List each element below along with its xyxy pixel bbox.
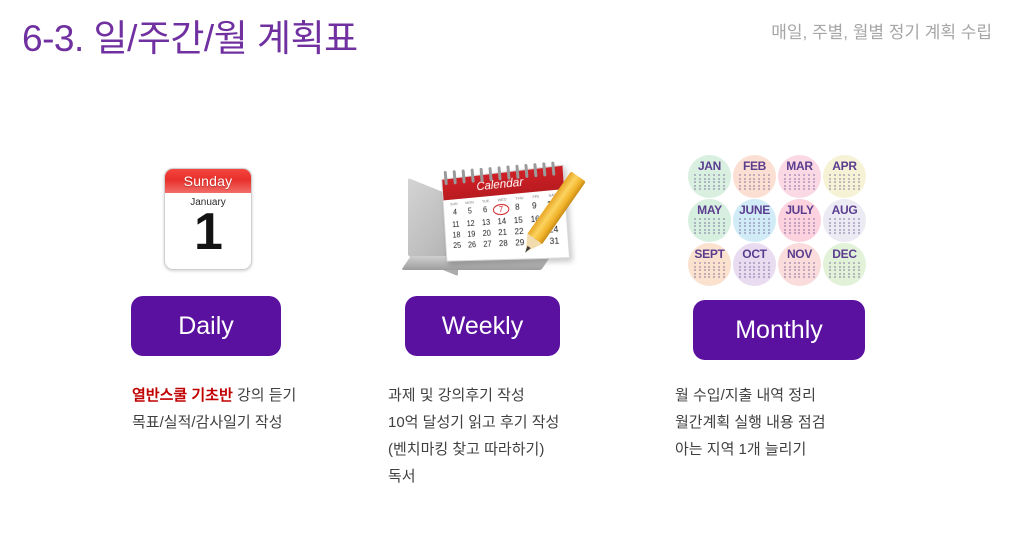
month-circle-feb: FEB — [733, 155, 776, 198]
month-mini-grid — [693, 174, 726, 190]
calendar-date-15: 15 — [510, 215, 527, 225]
month-label: APR — [832, 159, 856, 173]
month-label: JUNE — [739, 203, 770, 217]
page-title: 6-3. 일/주간/월 계획표 — [22, 8, 358, 62]
month-mini-grid — [828, 218, 861, 234]
month-mini-grid — [783, 174, 816, 190]
month-circle-dec: DEC — [823, 243, 866, 286]
column-weekly: Calendar SUNMONTUEWEDTHUFRISAT 456789101… — [340, 150, 640, 530]
calendar-date-9: 9 — [525, 200, 543, 213]
month-circle-may: MAY — [688, 199, 731, 242]
calendar-weekday-2: TUE — [482, 198, 490, 204]
weekly-button[interactable]: Weekly — [405, 296, 560, 356]
year-months-icon: JANFEBMARAPRMAYJUNEJULYAUGSEPTOCTNOVDEC — [688, 155, 868, 287]
month-mini-grid — [738, 218, 771, 234]
column-daily: Sunday January 1 Daily 열반스쿨 기초반 강의 듣기 목표… — [56, 150, 356, 530]
month-circle-apr: APR — [823, 155, 866, 198]
calendar-date-11: 11 — [448, 220, 463, 230]
daily-note-1-rest: 목표/실적/감사일기 작성 — [132, 414, 283, 431]
calendar-weekday-1: MON — [465, 200, 474, 206]
monthly-notes: 월 수입/지출 내역 정리 월간계획 실행 내용 점검 아는 지역 1개 늘리기 — [675, 382, 826, 463]
spiral-ring — [542, 162, 546, 176]
calendar-date-12: 12 — [463, 219, 479, 229]
month-circle-nov: NOV — [778, 243, 821, 286]
calendar-date-21: 21 — [494, 227, 511, 237]
month-circle-sept: SEPT — [688, 243, 731, 286]
list-item: 독서 — [388, 463, 559, 490]
month-mini-grid — [738, 262, 771, 278]
daily-icon-area: Sunday January 1 — [56, 150, 356, 280]
month-circle-aug: AUG — [823, 199, 866, 242]
spiral-ring — [506, 165, 510, 179]
spiral-ring — [471, 169, 475, 183]
calendar-day-icon: Sunday January 1 — [164, 168, 252, 270]
daily-note-0-highlight: 열반스쿨 기초반 — [132, 387, 233, 404]
calendar-date-25: 25 — [450, 241, 465, 250]
month-label: AUG — [832, 203, 858, 217]
month-label: MAR — [786, 159, 812, 173]
daily-note-0-rest: 강의 듣기 — [233, 387, 297, 404]
calendar-date-14: 14 — [494, 216, 511, 226]
weekly-note-1: 10억 달성기 읽고 후기 작성 — [388, 414, 559, 431]
list-item: 월 수입/지출 내역 정리 — [675, 382, 826, 409]
month-label: JULY — [785, 203, 813, 217]
monthly-icon-area: JANFEBMARAPRMAYJUNEJULYAUGSEPTOCTNOVDEC — [630, 150, 930, 280]
month-circle-mar: MAR — [778, 155, 821, 198]
month-circle-june: JUNE — [733, 199, 776, 242]
weekly-icon-area: Calendar SUNMONTUEWEDTHUFRISAT 456789101… — [340, 150, 640, 280]
monthly-note-1: 월간계획 실행 내용 점검 — [675, 414, 826, 431]
calendar-date-18: 18 — [449, 230, 464, 239]
calendar-weekday-0: SUN — [450, 201, 458, 206]
weekly-note-0: 과제 및 강의후기 작성 — [388, 387, 525, 404]
month-label: MAY — [697, 203, 722, 217]
month-mini-grid — [693, 262, 726, 278]
calendar-date-13: 13 — [478, 218, 494, 228]
month-mini-grid — [738, 174, 771, 190]
column-monthly: JANFEBMARAPRMAYJUNEJULYAUGSEPTOCTNOVDEC … — [630, 150, 930, 530]
month-mini-grid — [783, 218, 816, 234]
daily-notes: 열반스쿨 기초반 강의 듣기 목표/실적/감사일기 작성 — [132, 382, 296, 436]
month-label: DEC — [832, 247, 856, 261]
calendar-date-6: 6 — [477, 205, 493, 217]
spiral-ring — [488, 167, 492, 181]
spiral-ring — [444, 171, 448, 185]
month-label: FEB — [743, 159, 766, 173]
monthly-note-0: 월 수입/지출 내역 정리 — [675, 387, 816, 404]
desk-calendar-pencil-icon: Calendar SUNMONTUEWEDTHUFRISAT 456789101… — [398, 158, 583, 278]
list-item: (벤치마킹 찾고 따라하기) — [388, 436, 559, 463]
spiral-ring — [462, 169, 466, 183]
month-mini-grid — [693, 218, 726, 234]
list-item: 월간계획 실행 내용 점검 — [675, 409, 826, 436]
spiral-ring — [453, 170, 457, 184]
calendar-day-number: 1 — [165, 206, 251, 258]
calendar-date-8: 8 — [509, 202, 526, 214]
calendar-date-26: 26 — [464, 240, 480, 249]
spiral-ring — [479, 168, 483, 182]
list-item: 목표/실적/감사일기 작성 — [132, 409, 296, 436]
list-item: 과제 및 강의후기 작성 — [388, 382, 559, 409]
calendar-date-31: 31 — [545, 236, 564, 246]
calendar-weekday-4: THU — [515, 195, 524, 201]
spiral-ring — [533, 163, 537, 177]
spiral-ring — [551, 161, 555, 175]
weekly-notes: 과제 및 강의후기 작성 10억 달성기 읽고 후기 작성 (벤치마킹 찾고 따… — [388, 382, 559, 490]
weekly-note-2: (벤치마킹 찾고 따라하기) — [388, 441, 544, 458]
calendar-date-28: 28 — [495, 239, 512, 249]
calendar-date-19: 19 — [464, 229, 480, 239]
calendar-date-5: 5 — [462, 206, 478, 218]
spiral-ring — [524, 164, 528, 178]
month-mini-grid — [828, 262, 861, 278]
monthly-note-2: 아는 지역 1개 늘리기 — [675, 441, 806, 458]
list-item: 10억 달성기 읽고 후기 작성 — [388, 409, 559, 436]
calendar-weekday-5: FRI — [532, 194, 539, 200]
calendar-date-27: 27 — [479, 239, 495, 249]
calendar-date-4: 4 — [448, 207, 463, 219]
spiral-ring — [515, 165, 519, 179]
weekly-note-3: 독서 — [388, 468, 416, 485]
month-mini-grid — [828, 174, 861, 190]
month-circle-jan: JAN — [688, 155, 731, 198]
calendar-weekday-label: Sunday — [165, 169, 251, 193]
month-label: OCT — [742, 247, 766, 261]
daily-button[interactable]: Daily — [131, 296, 281, 356]
list-item: 아는 지역 1개 늘리기 — [675, 436, 826, 463]
month-label: SEPT — [694, 247, 724, 261]
spiral-ring — [497, 166, 501, 180]
month-label: NOV — [787, 247, 812, 261]
list-item: 열반스쿨 기초반 강의 듣기 — [132, 382, 296, 409]
page-subtitle: 매일, 주별, 월별 정기 계획 수립 — [771, 18, 992, 43]
month-mini-grid — [783, 262, 816, 278]
calendar-weekday-3: WED — [497, 196, 506, 202]
calendar-date-20: 20 — [479, 228, 495, 238]
month-label: JAN — [698, 159, 721, 173]
month-circle-oct: OCT — [733, 243, 776, 286]
month-circle-july: JULY — [778, 199, 821, 242]
calendar-date-7: 7 — [493, 203, 510, 215]
monthly-button[interactable]: Monthly — [693, 300, 865, 360]
